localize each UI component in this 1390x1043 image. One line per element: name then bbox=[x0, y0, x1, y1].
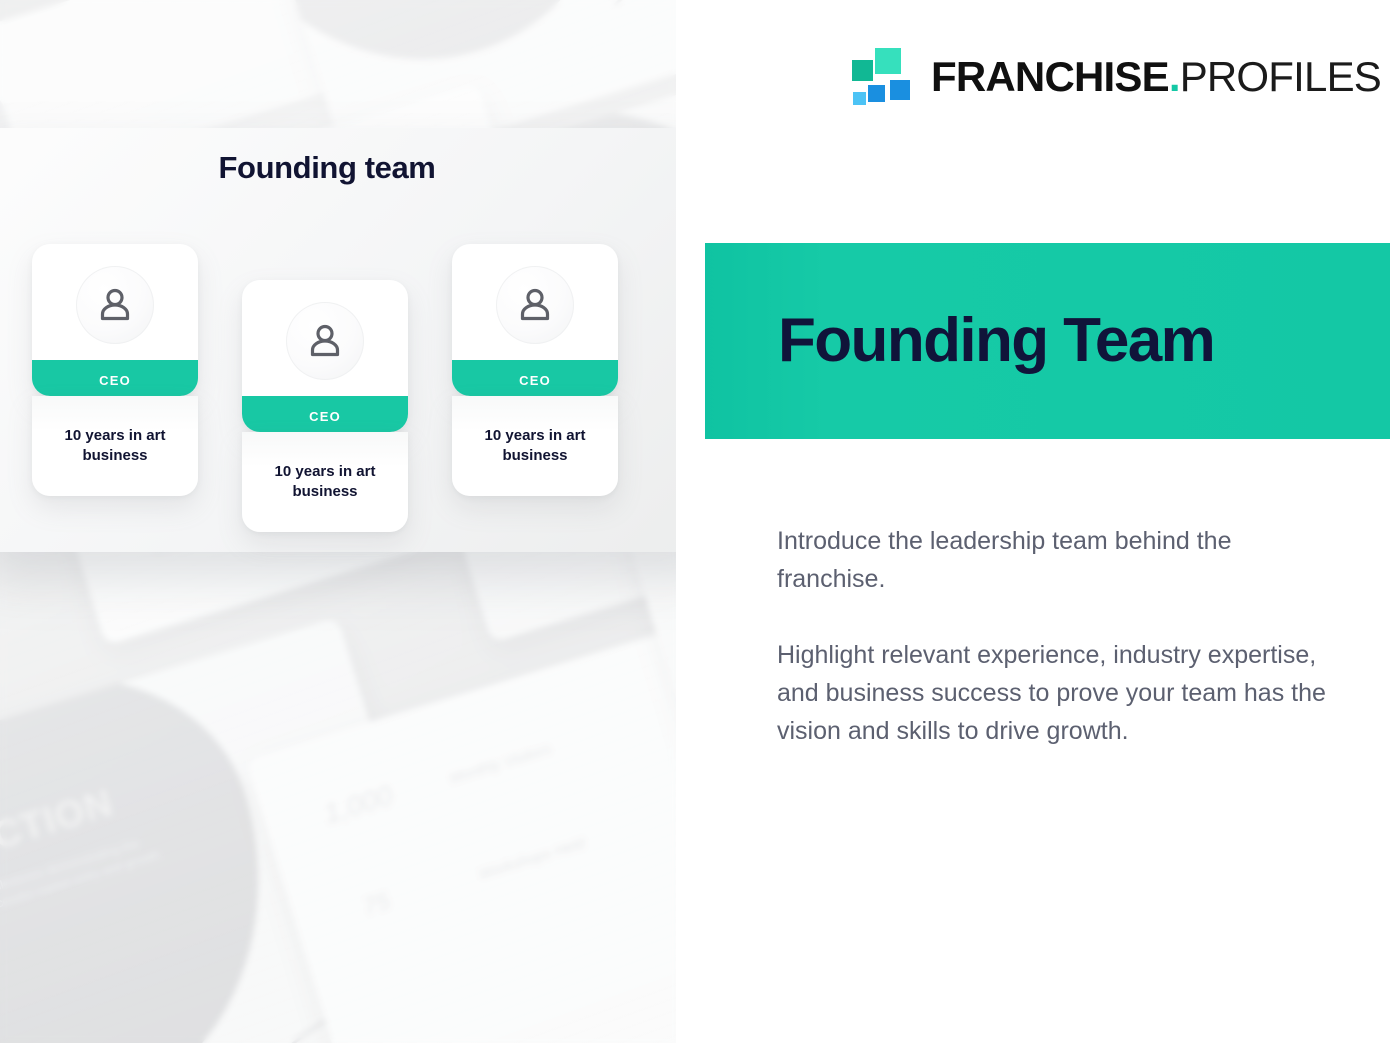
slide-preview-title: Founding team bbox=[182, 150, 472, 186]
logo-square-blue-medium bbox=[890, 80, 910, 100]
person-icon bbox=[304, 320, 346, 362]
collage-stat-value: 1,000 bbox=[319, 776, 397, 834]
brand-logo[interactable]: FRANCHISE.PROFILES bbox=[852, 42, 1381, 112]
avatar bbox=[32, 266, 198, 344]
logo-word-franchise: FRANCHISE bbox=[931, 53, 1169, 100]
page-title: Founding Team bbox=[778, 310, 1214, 372]
curved-arrow-icon bbox=[595, 0, 676, 20]
collage-stat-label: Workshops Held bbox=[476, 833, 587, 885]
collage-background-panel: MARKET Prices in urban and are substanti… bbox=[0, 0, 676, 1043]
content-panel: FRANCHISE.PROFILES Founding Team Introdu… bbox=[676, 0, 1390, 1043]
logo-wordmark: FRANCHISE.PROFILES bbox=[931, 56, 1381, 98]
team-member-card-body[interactable]: 10 years in art business bbox=[452, 396, 618, 496]
collage-stat-label: Monthly Visitors bbox=[447, 739, 554, 790]
team-member-card[interactable]: CEO bbox=[452, 244, 618, 396]
team-member-card-body[interactable]: 10 years in art business bbox=[32, 396, 198, 496]
team-member-card-body[interactable]: 10 years in art business bbox=[242, 432, 408, 532]
avatar bbox=[452, 266, 618, 344]
logo-square-teal-large bbox=[875, 48, 901, 74]
member-role-badge: CEO bbox=[32, 360, 198, 396]
logo-word-profiles: PROFILES bbox=[1180, 53, 1381, 100]
logo-squares-mark bbox=[852, 48, 912, 106]
team-member-card[interactable]: CEO bbox=[32, 244, 198, 396]
person-icon bbox=[514, 284, 556, 326]
logo-word-dot: . bbox=[1169, 53, 1180, 100]
member-role-badge: CEO bbox=[242, 396, 408, 432]
body-paragraph-1: Introduce the leadership team behind the… bbox=[777, 522, 1345, 598]
collage-stat-value: 75 bbox=[359, 885, 394, 925]
slide-preview-card[interactable]: Founding team CEO 10 years in art busine… bbox=[0, 128, 676, 552]
member-description: 10 years in art business bbox=[250, 462, 400, 502]
logo-square-blue-tiny bbox=[853, 92, 866, 105]
logo-square-blue-small bbox=[868, 85, 885, 102]
team-member-card[interactable]: CEO bbox=[242, 280, 408, 432]
logo-square-teal-medium bbox=[852, 60, 873, 81]
member-description: 10 years in art business bbox=[40, 426, 190, 466]
member-description: 10 years in art business bbox=[460, 426, 610, 466]
slide-canvas: MARKET Prices in urban and are substanti… bbox=[0, 0, 1390, 1043]
member-role-badge: CEO bbox=[452, 360, 618, 396]
person-icon bbox=[94, 284, 136, 326]
avatar bbox=[242, 302, 408, 380]
title-banner: Founding Team bbox=[705, 243, 1390, 439]
body-paragraph-2: Highlight relevant experience, industry … bbox=[777, 636, 1345, 750]
